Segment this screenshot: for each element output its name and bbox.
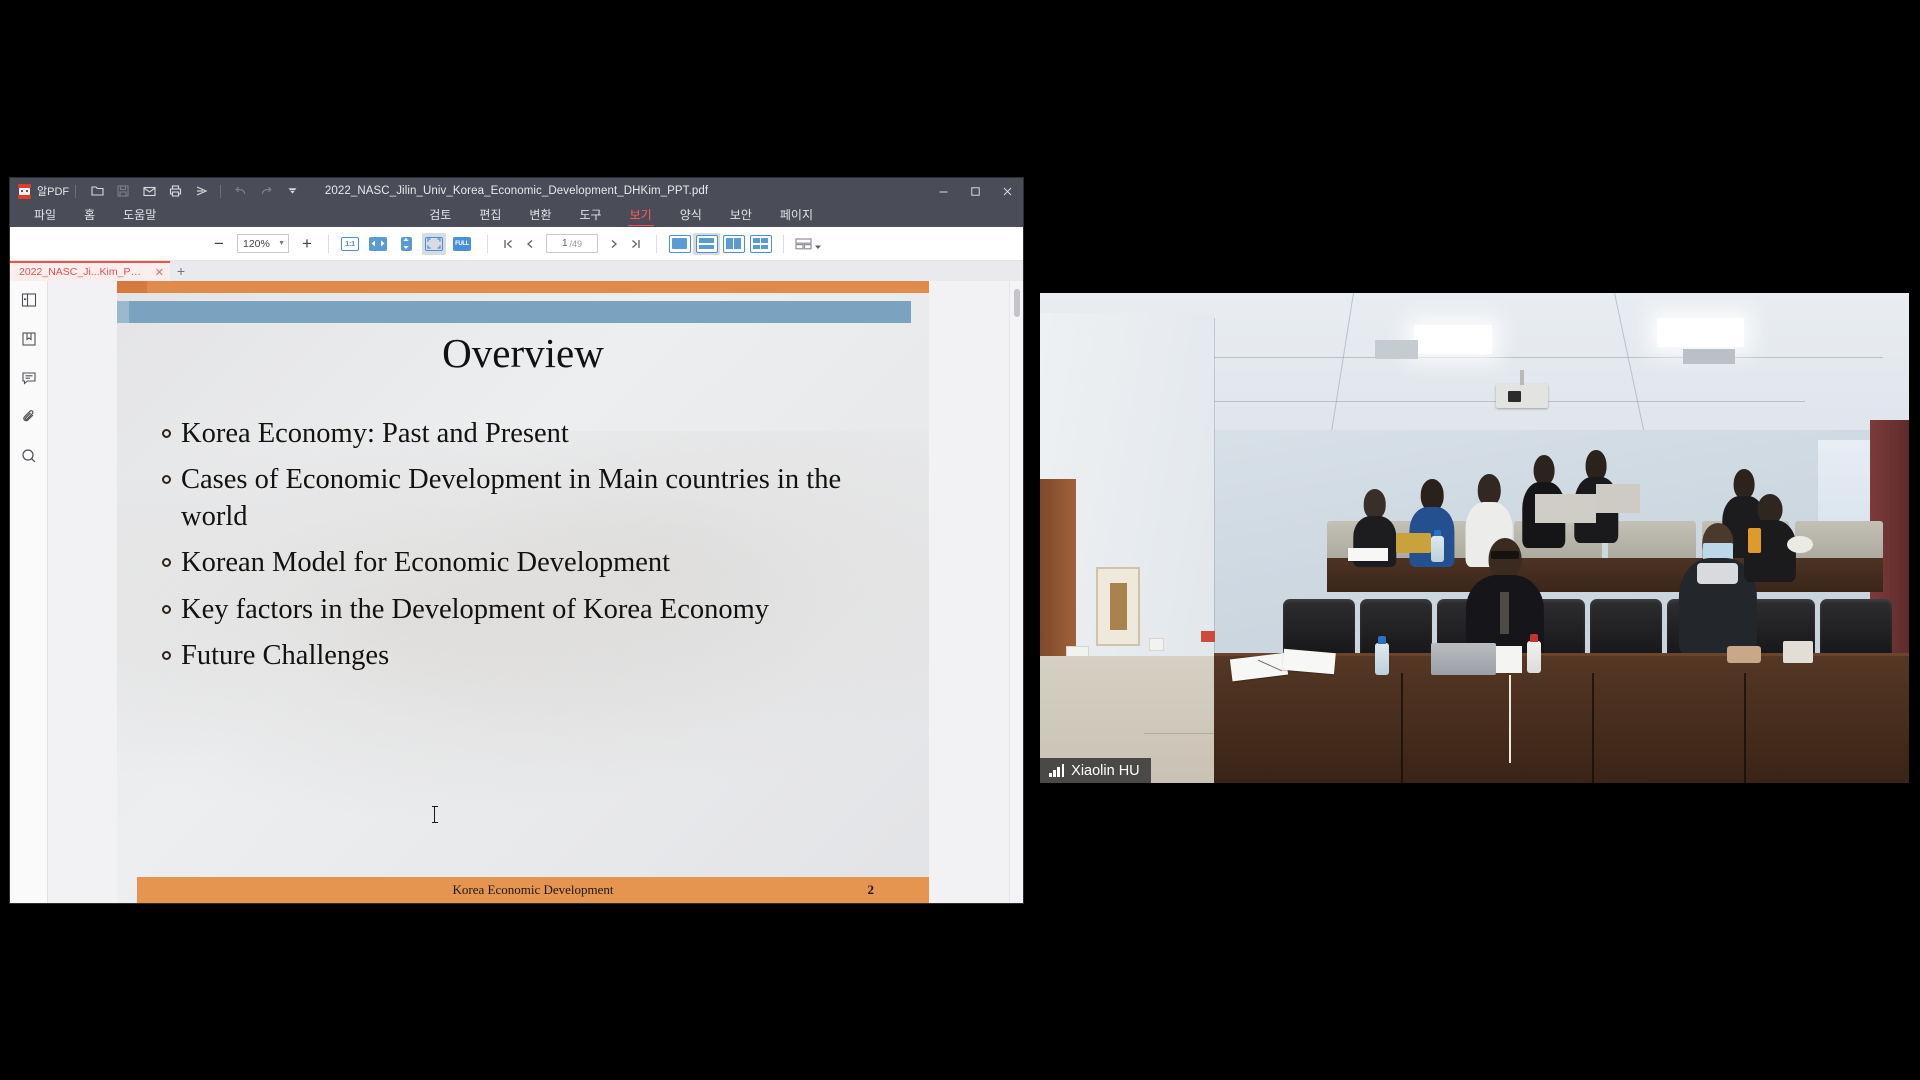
zoom-out-button[interactable]: − bbox=[207, 232, 231, 256]
document-tab-label: 2022_NASC_Ji...Kim_PPT.pdf bbox=[19, 266, 148, 278]
zoom-in-button[interactable]: + bbox=[295, 232, 319, 256]
signal-bars-icon bbox=[1049, 764, 1064, 777]
bullet-dot-icon bbox=[162, 475, 171, 484]
redo-button[interactable] bbox=[253, 179, 279, 203]
paper bbox=[1348, 548, 1387, 561]
bullet-dot-icon bbox=[162, 429, 171, 438]
water-bottle bbox=[1375, 643, 1390, 675]
bullet-text: Korean Model for Economic Development bbox=[181, 545, 690, 581]
bullet-text: Korea Economy: Past and Present bbox=[181, 416, 589, 452]
email-button[interactable] bbox=[136, 179, 162, 203]
slide-blue-band bbox=[117, 301, 911, 323]
close-button[interactable] bbox=[991, 178, 1023, 204]
slide-footer-title: Korea Economic Development bbox=[453, 882, 614, 898]
print-button[interactable] bbox=[162, 179, 188, 203]
vertical-scrollbar[interactable] bbox=[1009, 281, 1023, 903]
last-page-button[interactable] bbox=[625, 233, 647, 255]
bullet-dot-icon bbox=[162, 605, 171, 614]
video-feed: Xiaolin HU bbox=[1040, 293, 1909, 783]
fit-page-button[interactable] bbox=[422, 233, 446, 255]
prev-page-button[interactable] bbox=[519, 233, 541, 255]
list-item: Future Challenges bbox=[162, 638, 889, 674]
fit-width-icon bbox=[369, 237, 387, 251]
cable bbox=[1509, 675, 1511, 763]
front-desk bbox=[1214, 656, 1909, 783]
menu-item-page[interactable]: 페이지 bbox=[766, 204, 827, 227]
zoom-controls: − 120% ▼ + bbox=[207, 232, 319, 256]
new-tab-button[interactable]: + bbox=[170, 261, 192, 281]
slide-bullet-list: Korea Economy: Past and Present Cases of… bbox=[162, 416, 889, 685]
left-sidebar bbox=[10, 281, 48, 903]
page-layout-dropdown[interactable] bbox=[795, 237, 822, 251]
bullet-text: Future Challenges bbox=[181, 638, 409, 674]
ceiling-light bbox=[1657, 318, 1744, 347]
menu-item-security[interactable]: 보안 bbox=[716, 204, 766, 227]
page-view-modes bbox=[666, 233, 774, 255]
chevron-down-icon: ▼ bbox=[278, 240, 285, 247]
undo-button[interactable] bbox=[227, 179, 253, 203]
zoom-level-dropdown[interactable]: 120% ▼ bbox=[237, 234, 289, 253]
alpdf-mascot-icon bbox=[17, 184, 32, 199]
sidebar-item-attachments[interactable] bbox=[19, 407, 39, 427]
maximize-button[interactable] bbox=[959, 178, 991, 204]
next-page-button[interactable] bbox=[603, 233, 625, 255]
menu-bar: 파일 홈 도움말 검토 편집 변환 도구 보기 양식 보안 페이지 bbox=[10, 204, 1023, 227]
participant-name: Xiaolin HU bbox=[1071, 763, 1140, 779]
menu-item-home[interactable]: 홈 bbox=[70, 204, 109, 227]
chevron-down-filled-icon[interactable] bbox=[279, 179, 305, 203]
slide-page-number: 2 bbox=[868, 882, 875, 898]
menu-item-review[interactable]: 검토 bbox=[415, 204, 465, 227]
menu-item-edit[interactable]: 편집 bbox=[465, 204, 515, 227]
list-item: Cases of Economic Development in Main co… bbox=[162, 462, 889, 535]
sidebar-item-search[interactable] bbox=[19, 446, 39, 466]
ceiling-projector bbox=[1496, 384, 1548, 409]
document-tab[interactable]: 2022_NASC_Ji...Kim_PPT.pdf ✕ bbox=[10, 261, 170, 281]
two-column-icon bbox=[723, 235, 745, 253]
bullet-dot-icon bbox=[162, 651, 171, 660]
fit-page-icon bbox=[425, 237, 443, 251]
grid-view-button[interactable] bbox=[747, 233, 774, 255]
page-view-area[interactable]: Overview Korea Economy: Past and Present… bbox=[48, 281, 1023, 903]
alpdf-window: 알PDF bbox=[10, 178, 1023, 903]
app-name-label: 알PDF bbox=[37, 183, 69, 199]
divider bbox=[328, 235, 329, 253]
zoom-level-value: 120% bbox=[243, 238, 270, 250]
list-item: Korean Model for Economic Development bbox=[162, 545, 889, 581]
menu-item-file[interactable]: 파일 bbox=[20, 204, 70, 227]
participant-name-badge: Xiaolin HU bbox=[1040, 758, 1151, 783]
menu-left-group: 파일 홈 도움말 bbox=[10, 204, 170, 227]
scrollbar-thumb[interactable] bbox=[1014, 289, 1020, 317]
laptop bbox=[1431, 643, 1496, 675]
single-page-view-button[interactable] bbox=[666, 233, 693, 255]
single-page-icon bbox=[669, 235, 691, 253]
window-controls bbox=[927, 178, 1023, 204]
quick-access-toolbar bbox=[84, 179, 305, 203]
pdf-page-slide: Overview Korea Economy: Past and Present… bbox=[117, 281, 929, 903]
first-page-button[interactable] bbox=[497, 233, 519, 255]
ceiling-light bbox=[1414, 325, 1492, 354]
screen: 알PDF bbox=[0, 0, 1920, 1080]
page-navigation: 1 /49 bbox=[497, 233, 647, 255]
bullet-text: Cases of Economic Development in Main co… bbox=[181, 462, 889, 535]
share-arrow-button[interactable] bbox=[188, 179, 214, 203]
one-to-one-icon: 1:1 bbox=[341, 237, 359, 251]
menu-item-convert[interactable]: 변환 bbox=[515, 204, 565, 227]
divider bbox=[75, 185, 76, 198]
two-column-view-button[interactable] bbox=[720, 233, 747, 255]
open-file-button[interactable] bbox=[84, 179, 110, 203]
current-page-value: 1 bbox=[562, 238, 568, 249]
save-button[interactable] bbox=[110, 179, 136, 203]
page-number-input[interactable]: 1 /49 bbox=[546, 234, 598, 253]
sidebar-item-bookmarks[interactable] bbox=[19, 329, 39, 349]
menu-right-group: 검토 편집 변환 도구 보기 양식 보안 페이지 bbox=[415, 204, 827, 227]
divider bbox=[487, 235, 488, 253]
divider bbox=[783, 235, 784, 253]
view-ribbon-toolbar: − 120% ▼ + 1:1 bbox=[10, 227, 1023, 261]
slide-footer: Korea Economic Development 2 bbox=[137, 877, 929, 903]
divider bbox=[656, 235, 657, 253]
sidebar-item-comments[interactable] bbox=[19, 368, 39, 388]
bullet-text: Key factors in the Development of Korea … bbox=[181, 592, 789, 628]
menu-item-tools[interactable]: 도구 bbox=[566, 204, 616, 227]
water-bottle bbox=[1527, 641, 1542, 673]
menu-item-form[interactable]: 양식 bbox=[666, 204, 716, 227]
close-icon[interactable]: ✕ bbox=[155, 266, 164, 279]
actual-size-button[interactable]: 1:1 bbox=[338, 233, 362, 255]
wall-picture bbox=[1096, 567, 1139, 645]
window-titlebar[interactable]: 알PDF bbox=[10, 178, 1023, 204]
document-body: ▸ ◂ Overview Korea Economy: Past and Pre… bbox=[10, 281, 1023, 903]
list-item: Korea Economy: Past and Present bbox=[162, 416, 889, 452]
list-item: Key factors in the Development of Korea … bbox=[162, 592, 889, 628]
fit-width-button[interactable] bbox=[366, 233, 390, 255]
document-tab-strip: 2022_NASC_Ji...Kim_PPT.pdf ✕ + bbox=[10, 261, 1023, 281]
menu-item-help[interactable]: 도움말 bbox=[109, 204, 170, 227]
fit-height-button[interactable] bbox=[394, 233, 418, 255]
app-logo-group: 알PDF bbox=[10, 183, 69, 199]
divider bbox=[220, 185, 221, 198]
minimize-button[interactable] bbox=[927, 178, 959, 204]
slide-title: Overview bbox=[117, 329, 929, 377]
text-cursor-icon bbox=[434, 806, 435, 823]
sidebar-item-thumbnails[interactable] bbox=[19, 290, 39, 310]
fit-height-icon bbox=[401, 237, 412, 251]
continuous-page-view-button[interactable] bbox=[693, 233, 720, 255]
total-pages-label: /49 bbox=[570, 239, 583, 249]
bullet-dot-icon bbox=[162, 558, 171, 567]
full-screen-icon: FULL bbox=[453, 237, 471, 251]
paper bbox=[1283, 648, 1337, 673]
continuous-page-icon bbox=[696, 235, 718, 253]
water-bottle bbox=[1431, 536, 1444, 563]
grid-view-icon bbox=[750, 235, 772, 253]
full-screen-button[interactable]: FULL bbox=[450, 233, 474, 255]
video-conference-panel[interactable]: Xiaolin HU bbox=[1040, 293, 1909, 783]
slide-top-band bbox=[117, 281, 929, 293]
fit-mode-buttons: 1:1 bbox=[338, 233, 478, 255]
menu-item-view[interactable]: 보기 bbox=[616, 204, 666, 227]
